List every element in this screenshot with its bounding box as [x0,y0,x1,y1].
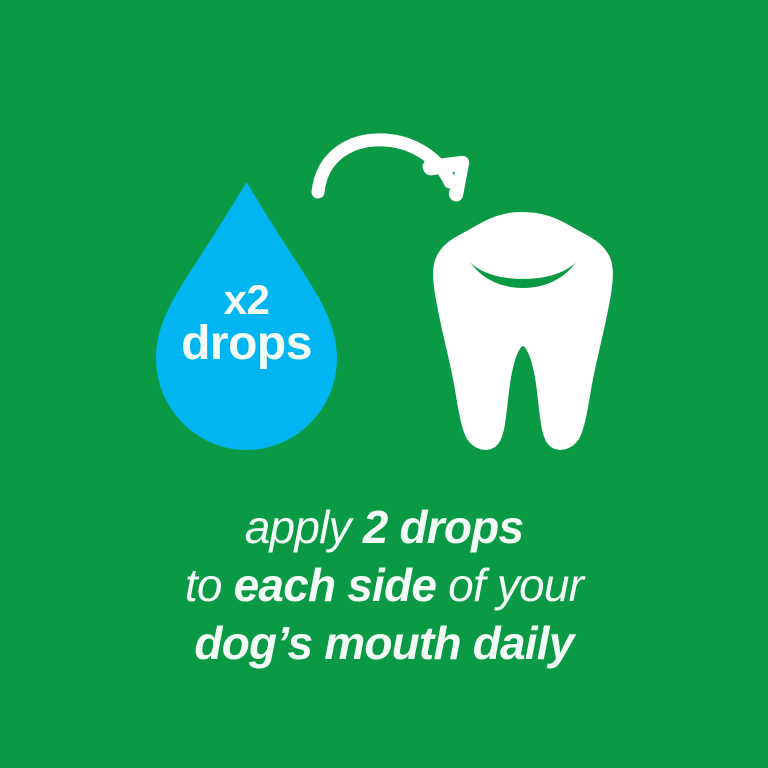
caption-line-2: to each side of your [0,556,768,614]
caption-line-2-regular-b: of your [436,559,583,611]
illustration-svg [0,0,768,480]
caption-line-2-bold: each side [234,559,436,611]
caption-line-3-bold: dog’s mouth daily [194,617,573,669]
caption-line-1-regular: apply [245,501,363,553]
caption-text: apply 2 drops to each side of your dog’s… [0,498,768,672]
caption-line-2-regular-a: to [185,559,234,611]
instruction-poster: x2 drops apply 2 drops to each side of y… [0,0,768,768]
droplet-label-drops: drops [155,320,338,368]
caption-line-1: apply 2 drops [0,498,768,556]
caption-line-3: dog’s mouth daily [0,614,768,672]
illustration-area: x2 drops [0,0,768,480]
droplet-label-x2: x2 [155,279,338,321]
tooth-shape [433,212,613,450]
curved-arrow-icon [318,140,469,202]
caption-line-1-bold: 2 drops [363,501,524,553]
